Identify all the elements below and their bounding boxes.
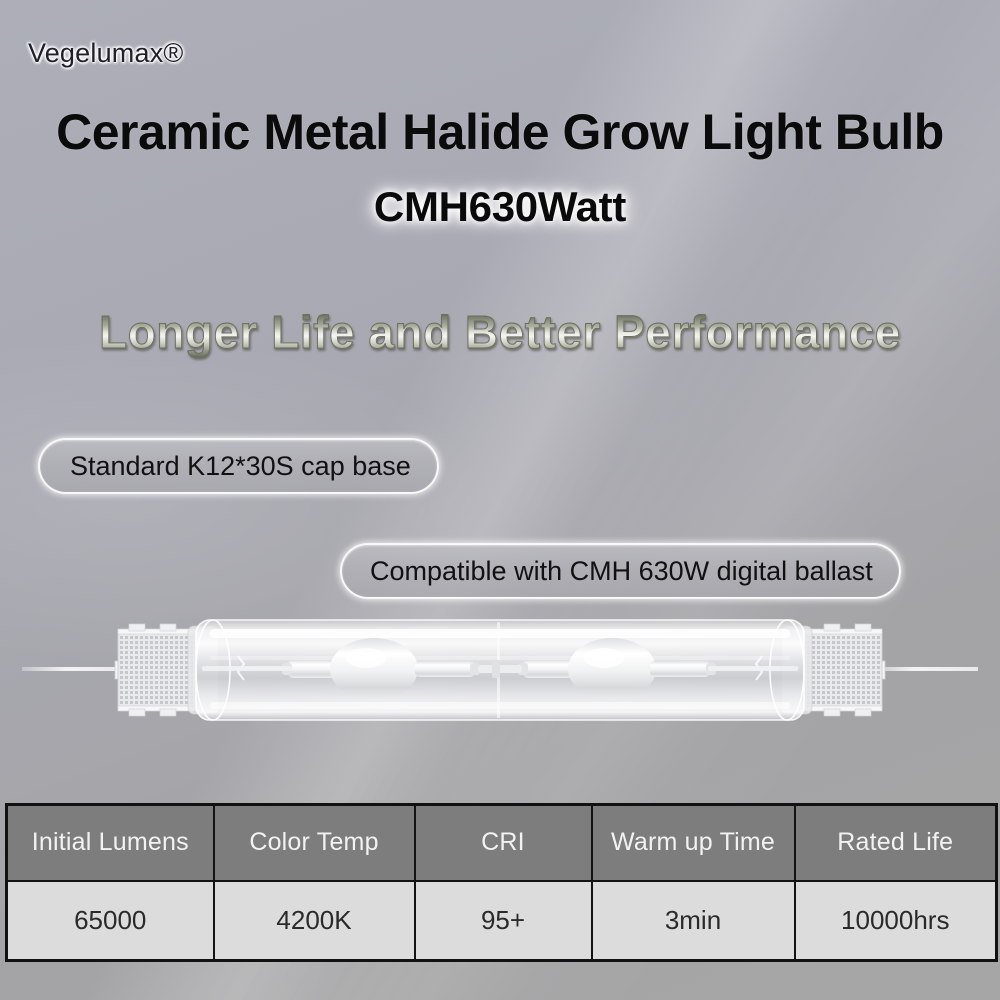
callout-ballast: Compatible with CMH 630W digital ballast	[342, 545, 899, 597]
brand-name: Vegelumax®	[28, 38, 183, 69]
cmh-lamp-illustration	[0, 596, 1000, 746]
lamp-end-cap-left	[115, 624, 198, 716]
page-title: Ceramic Metal Halide Grow Light Bulb	[0, 103, 1000, 161]
product-infographic: Vegelumax® Ceramic Metal Halide Grow Lig…	[0, 0, 1000, 1000]
lamp-end-cap-right	[802, 624, 885, 716]
model-title: CMH630Watt	[0, 183, 1000, 231]
column-header-initial-lumens: Initial Lumens	[7, 805, 214, 881]
column-header-warm-up-time: Warm up Time	[592, 805, 795, 881]
column-header-color-temp: Color Temp	[214, 805, 415, 881]
callout-ballast-label: Compatible with CMH 630W digital ballast	[370, 556, 873, 587]
cell-initial-lumens: 65000	[7, 881, 214, 961]
column-header-rated-life: Rated Life	[795, 805, 997, 881]
specification-table: Initial Lumens Color Temp CRI Warm up Ti…	[5, 803, 998, 962]
product-image	[0, 596, 1000, 746]
cell-cri: 95+	[415, 881, 592, 961]
cell-warm-up-time: 3min	[592, 881, 795, 961]
table-row: 65000 4200K 95+ 3min 10000hrs	[7, 881, 997, 961]
table-header-row: Initial Lumens Color Temp CRI Warm up Ti…	[7, 805, 997, 881]
callout-cap-base-label: Standard K12*30S cap base	[70, 451, 411, 482]
callout-cap-base: Standard K12*30S cap base	[40, 440, 437, 492]
cell-color-temp: 4200K	[214, 881, 415, 961]
tagline: Longer Life and Better Performance	[0, 305, 1000, 359]
cell-rated-life: 10000hrs	[795, 881, 997, 961]
column-header-cri: CRI	[415, 805, 592, 881]
